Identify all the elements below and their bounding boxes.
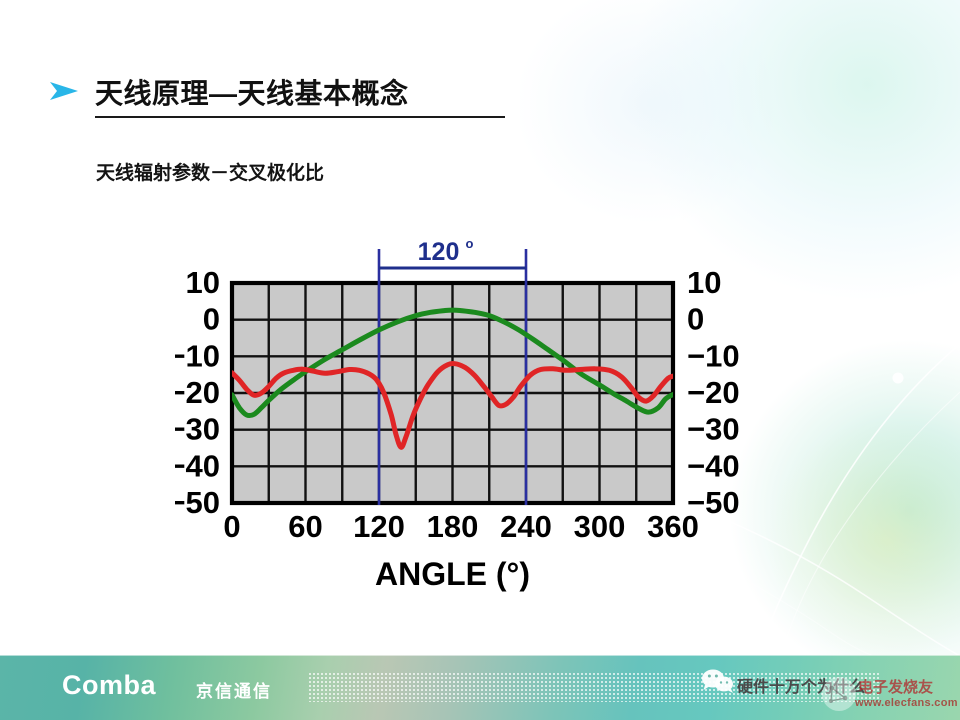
x-tick: 120 — [353, 509, 405, 544]
x-tick: 180 — [427, 509, 479, 544]
slide-subtitle: 天线辐射参数－交叉极化比 — [96, 158, 324, 185]
elecfans-logo-icon — [818, 672, 860, 716]
x-tick: 0 — [223, 509, 240, 544]
beamwidth-label: 120 — [418, 238, 460, 266]
y-tick-left: −50 — [175, 485, 220, 520]
watermark-url: www.elecfans.com — [855, 697, 958, 709]
comba-logo-cn: 京信通信 — [196, 677, 272, 702]
play-arrow-icon — [48, 80, 82, 102]
y-tick-right: −40 — [687, 448, 740, 483]
y-tick-left: −40 — [175, 448, 220, 483]
y-axis-left: 100−10−20−30−40−50 — [175, 265, 220, 520]
y-tick-right: −30 — [687, 412, 740, 447]
y-tick-left: 10 — [186, 265, 220, 300]
y-tick-left: 0 — [203, 302, 220, 337]
y-tick-right: −20 — [687, 375, 740, 410]
x-axis-label: ANGLE (°) — [375, 556, 530, 592]
y-tick-right: 10 — [687, 265, 721, 300]
page-title: 天线原理—天线基本概念 — [95, 72, 409, 112]
title-divider — [95, 116, 505, 118]
cross-polarization-chart: 120o100−10−20−30−40−50100−10−20−30−40−50… — [175, 232, 755, 592]
x-axis: 060120180240300360 — [223, 509, 698, 544]
y-tick-right: −10 — [687, 338, 740, 373]
x-tick: 60 — [288, 509, 322, 544]
x-tick: 360 — [647, 509, 699, 544]
beamwidth-degree-symbol: o — [466, 236, 474, 251]
y-axis-right: 100−10−20−30−40−50 — [687, 265, 740, 520]
wechat-icon — [700, 668, 736, 694]
comba-logo: Comba — [62, 670, 156, 701]
y-tick-left: −20 — [175, 375, 220, 410]
watermark-text: 电子发烧友 — [858, 676, 933, 697]
x-tick: 240 — [500, 509, 552, 544]
y-tick-right: 0 — [687, 302, 704, 337]
footer-divider — [0, 655, 960, 656]
y-tick-left: −30 — [175, 412, 220, 447]
x-tick: 300 — [574, 509, 626, 544]
slide-header: 天线原理—天线基本概念 — [0, 0, 960, 130]
y-tick-left: −10 — [175, 338, 220, 373]
